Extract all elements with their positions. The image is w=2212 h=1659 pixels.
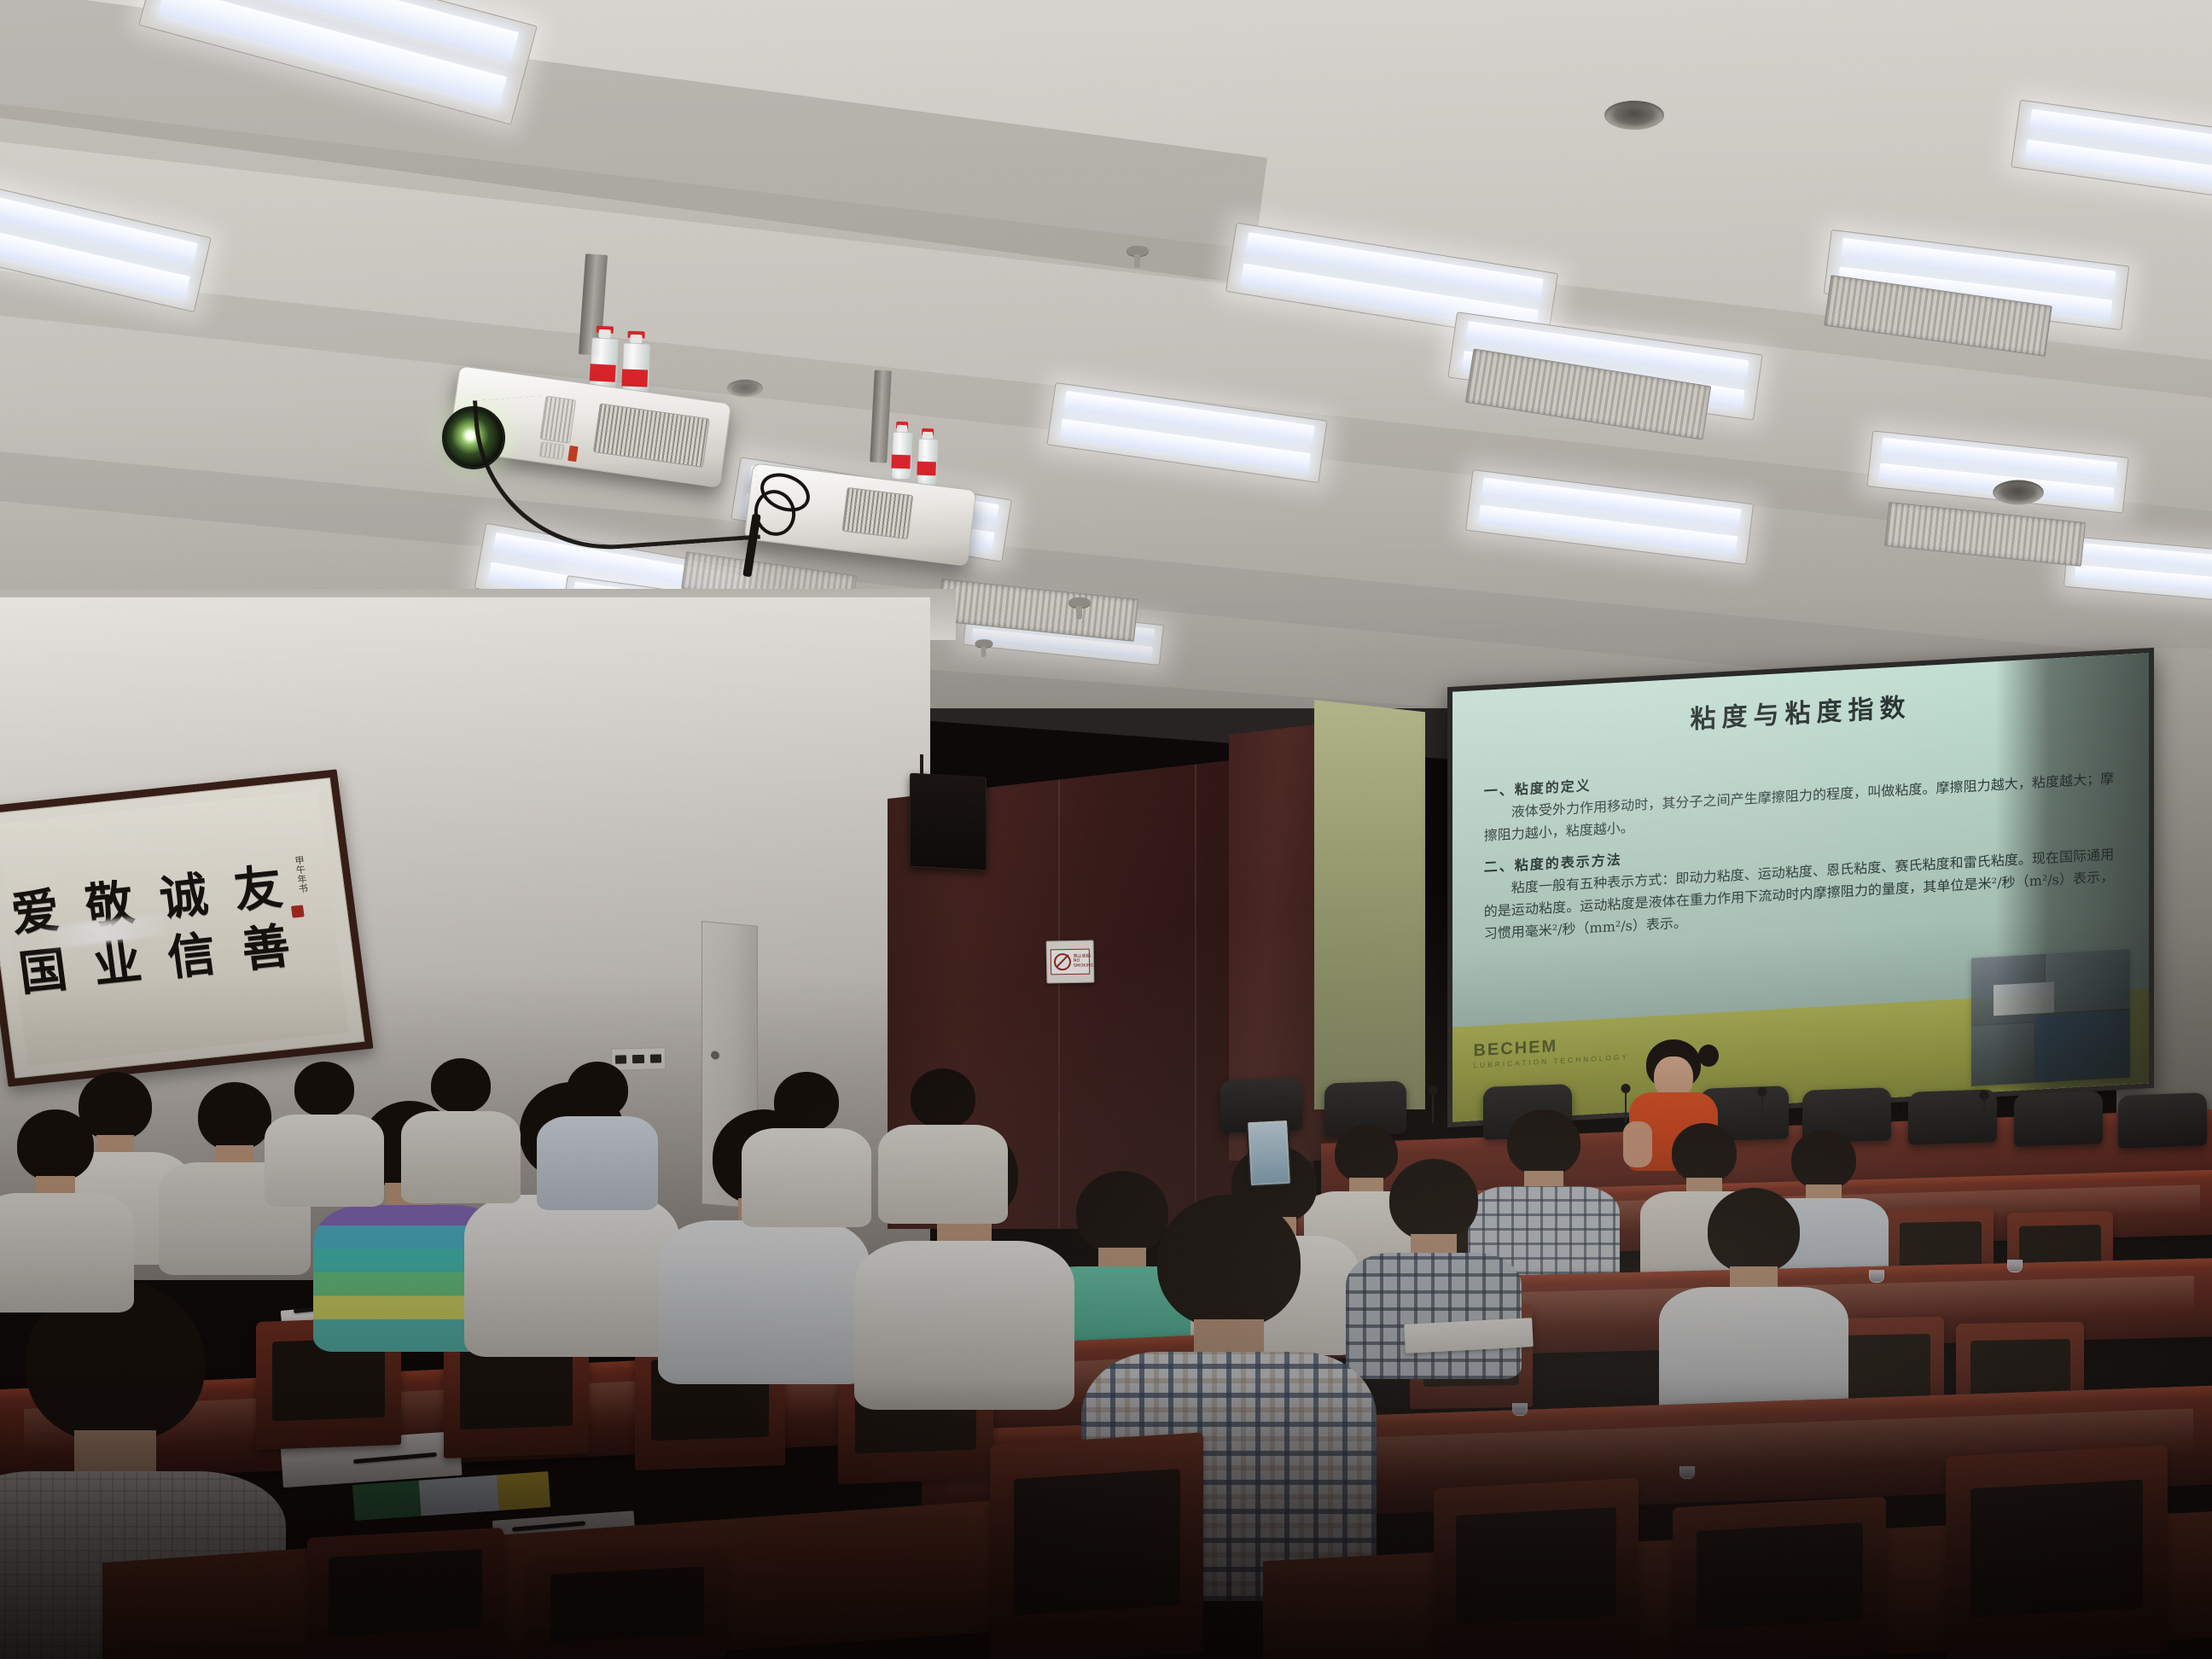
ceiling-light-troffer bbox=[1046, 382, 1327, 483]
head-table-chair[interactable] bbox=[2014, 1091, 2103, 1147]
ceiling-light-troffer bbox=[2011, 100, 2212, 208]
foreground-chair[interactable] bbox=[1673, 1496, 1886, 1659]
slide-surface: 粘度与粘度指数 一、粘度的定义 液体受外力作用移动时，其分子之间产生摩擦阻力的程… bbox=[1452, 653, 2149, 1122]
slide-shadow-overlay bbox=[1995, 653, 2149, 1091]
head-table-chair[interactable] bbox=[2118, 1092, 2207, 1149]
audience-person bbox=[273, 1062, 375, 1215]
panel-seam bbox=[1058, 751, 1060, 1229]
audience-person bbox=[888, 1068, 998, 1231]
phone-screen bbox=[1249, 1122, 1289, 1184]
person-neck bbox=[74, 1430, 156, 1475]
fire-sprinkler-icon bbox=[975, 639, 993, 648]
water-glass bbox=[2007, 1260, 2023, 1272]
person-torso bbox=[742, 1128, 871, 1227]
foreground-chair[interactable] bbox=[990, 1432, 1203, 1659]
audience-person bbox=[410, 1058, 512, 1212]
sign-label: 禁止吸烟 NO SMOKING bbox=[1074, 955, 1094, 969]
person-head bbox=[1708, 1188, 1800, 1273]
person-head bbox=[1157, 1195, 1301, 1328]
presenter-arm bbox=[1623, 1121, 1652, 1167]
table-microphone[interactable] bbox=[1427, 1086, 1439, 1123]
person-torso bbox=[537, 1116, 658, 1210]
wall-speaker bbox=[910, 773, 987, 871]
presenter-hair-bun bbox=[1698, 1045, 1719, 1067]
projection-screen: 粘度与粘度指数 一、粘度的定义 液体受外力作用移动时，其分子之间产生摩擦阻力的程… bbox=[1452, 653, 2149, 1122]
foreground-chair[interactable] bbox=[307, 1528, 504, 1659]
person-head bbox=[198, 1082, 271, 1150]
person-torso bbox=[265, 1115, 384, 1207]
audience-person bbox=[751, 1072, 862, 1234]
audience-person bbox=[1673, 1188, 1835, 1410]
projection-screen-frame: 粘度与粘度指数 一、粘度的定义 液体受外力作用移动时，其分子之间产生摩擦阻力的程… bbox=[1447, 648, 2154, 1127]
audience-person bbox=[0, 1109, 119, 1314]
person-head bbox=[294, 1062, 354, 1116]
fire-sprinkler-icon bbox=[1126, 246, 1149, 256]
table-microphone[interactable] bbox=[1756, 1087, 1768, 1125]
foreground-chair[interactable] bbox=[1946, 1445, 2168, 1659]
projector-secondary bbox=[734, 375, 1007, 572]
person-head bbox=[1389, 1159, 1478, 1241]
no-smoking-sign: 禁止吸烟 NO SMOKING bbox=[1046, 940, 1095, 984]
water-glass bbox=[1512, 1403, 1528, 1416]
person-head bbox=[774, 1072, 839, 1132]
person-torso bbox=[854, 1241, 1074, 1410]
water-bottle bbox=[915, 432, 939, 486]
person-torso bbox=[464, 1195, 679, 1357]
water-bottle bbox=[889, 425, 913, 479]
wall-green-panel bbox=[1314, 700, 1425, 1109]
person-torso bbox=[658, 1220, 870, 1384]
foreground-chair[interactable] bbox=[1434, 1478, 1639, 1659]
projector-mount-pole bbox=[870, 370, 892, 463]
person-torso bbox=[1346, 1253, 1522, 1379]
no-smoking-icon bbox=[1054, 953, 1071, 970]
sign-label-en: NO SMOKING bbox=[1074, 958, 1094, 968]
projector-vent-grille bbox=[841, 487, 913, 539]
panel-seam bbox=[1195, 751, 1196, 1229]
water-glass bbox=[1679, 1466, 1695, 1479]
foreground-chair[interactable] bbox=[529, 1548, 725, 1659]
person-torso bbox=[0, 1193, 134, 1313]
conference-room-photo: 爱 敬 诚 友 国 业 信 善 甲午年书 禁止吸烟 NO SMOKING bbox=[0, 0, 2212, 1659]
sign-inner: 禁止吸烟 NO SMOKING bbox=[1051, 949, 1091, 975]
projector-cable-bundle bbox=[753, 469, 826, 529]
table-microphone[interactable] bbox=[1978, 1091, 1990, 1126]
door-knob[interactable] bbox=[711, 1051, 719, 1060]
person-torso bbox=[878, 1125, 1008, 1224]
ceiling-light-troffer bbox=[2064, 536, 2212, 608]
person-head bbox=[911, 1068, 975, 1128]
person-head bbox=[567, 1062, 628, 1118]
person-head bbox=[1672, 1123, 1737, 1183]
water-glass bbox=[1869, 1270, 1884, 1283]
fire-sprinkler-icon bbox=[1068, 597, 1091, 608]
person-head bbox=[1507, 1109, 1580, 1176]
person-head bbox=[17, 1109, 94, 1181]
recessed-downlight bbox=[1993, 480, 2044, 505]
audience-person bbox=[546, 1062, 649, 1215]
person-torso bbox=[401, 1111, 521, 1203]
person-head bbox=[431, 1058, 491, 1113]
recessed-downlight bbox=[1604, 101, 1664, 130]
smartphone[interactable] bbox=[1246, 1119, 1292, 1188]
person-head bbox=[1791, 1130, 1856, 1190]
